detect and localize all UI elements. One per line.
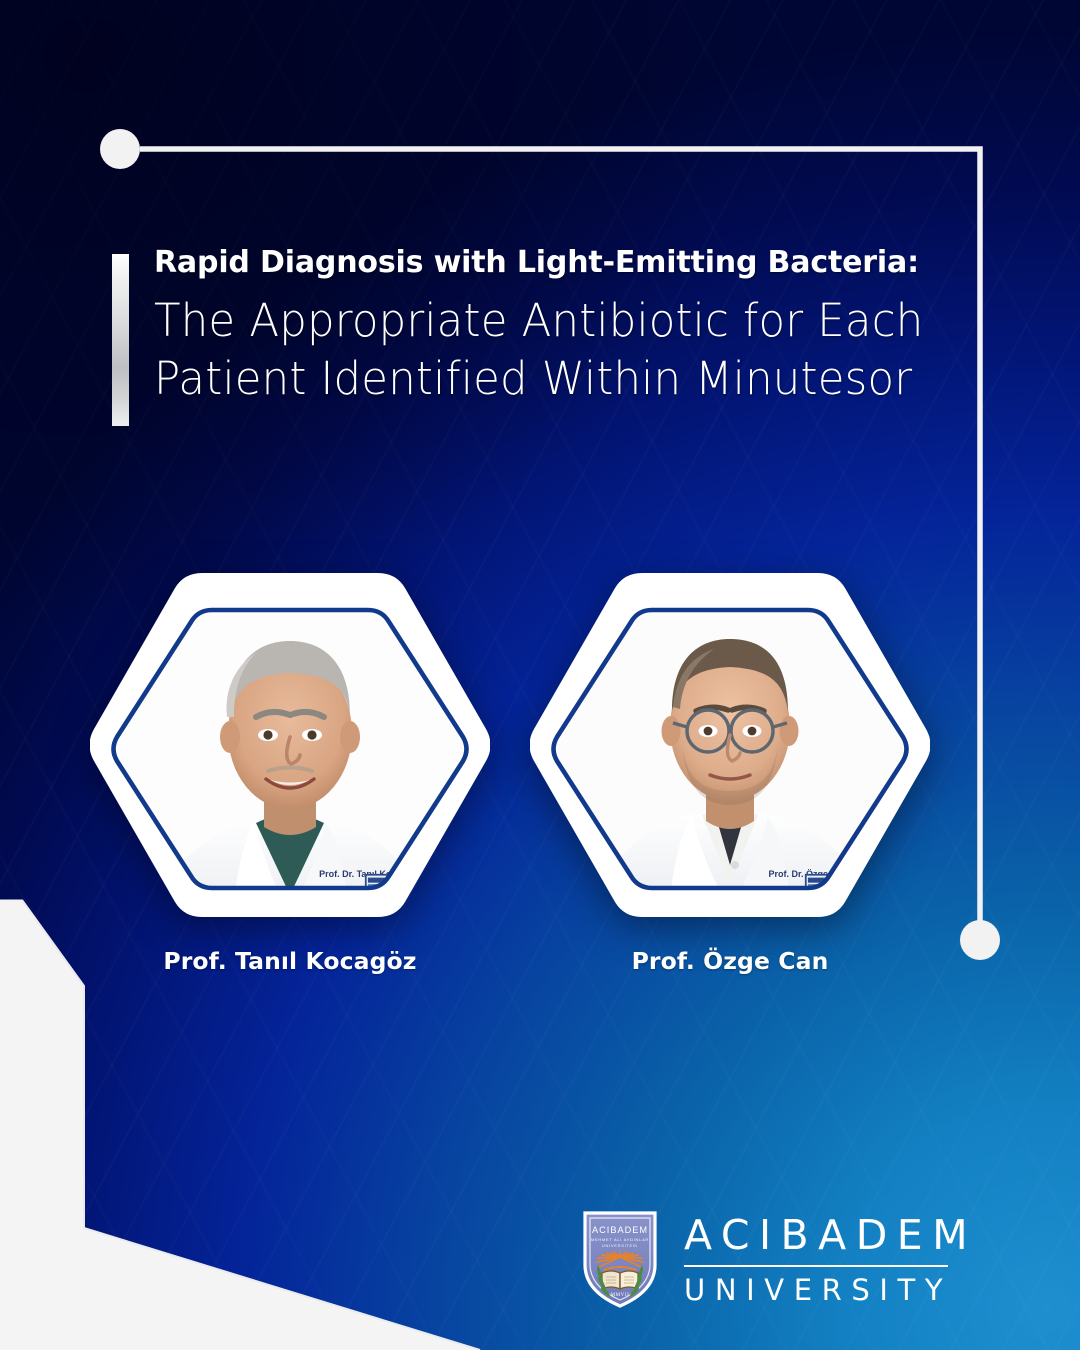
crest-subtitle-1: MEHMET ALİ AYDINLAR (591, 1237, 649, 1242)
poster-canvas: Rapid Diagnosis with Light-Emitting Bact… (0, 0, 1080, 1350)
title-headline: The Appropriate Antibiotic for Each Pati… (154, 292, 914, 409)
crest-year: MMVII (611, 1293, 630, 1298)
open-book-icon (602, 1271, 638, 1289)
person-name-1: Prof. Özge Can (530, 947, 930, 975)
title-headline-line-2: Patient Identified Within Minutesor (154, 350, 914, 409)
title-block: Rapid Diagnosis with Light-Emitting Bact… (112, 248, 942, 409)
acibadem-university-logo: ACIBADEM MEHMET ALİ AYDINLAR ÜNİVERSİTES… (580, 1203, 980, 1315)
university-crest-icon: ACIBADEM MEHMET ALİ AYDINLAR ÜNİVERSİTES… (580, 1207, 660, 1311)
crest-subtitle-2: ÜNİVERSİTESİ (602, 1243, 638, 1248)
hexagon-frame-1: Prof. Dr. Özge Can (530, 565, 930, 933)
logo-wordmark-bottom: UNIVERSITY (684, 1276, 977, 1305)
title-accent-bar (112, 254, 129, 426)
person-card-0: Prof. Dr. Tanıl Kocagöz Prof. Tanıl Koca… (90, 565, 490, 933)
portrait-photo-1: Prof. Dr. Özge Can (530, 565, 930, 933)
portrait-photo-0: Prof. Dr. Tanıl Kocagöz (90, 565, 490, 933)
logo-wordmark-top: ACIBADEM (684, 1215, 977, 1256)
hexagon-frame-0: Prof. Dr. Tanıl Kocagöz (90, 565, 490, 933)
logo-wordmark-rule (684, 1265, 948, 1267)
logo-wordmark: ACIBADEM UNIVERSITY (684, 1213, 977, 1305)
title-headline-line-1: The Appropriate Antibiotic for Each (154, 292, 914, 351)
person-card-1: Prof. Dr. Özge Can Prof. Özge Can (530, 565, 930, 933)
title-kicker: Rapid Diagnosis with Light-Emitting Bact… (154, 248, 930, 279)
dot-end-icon (960, 920, 1000, 960)
crest-name: ACIBADEM (592, 1225, 648, 1235)
dot-start-icon (100, 129, 140, 169)
person-name-0: Prof. Tanıl Kocagöz (90, 947, 490, 975)
corner-decor-shape (0, 860, 560, 1350)
